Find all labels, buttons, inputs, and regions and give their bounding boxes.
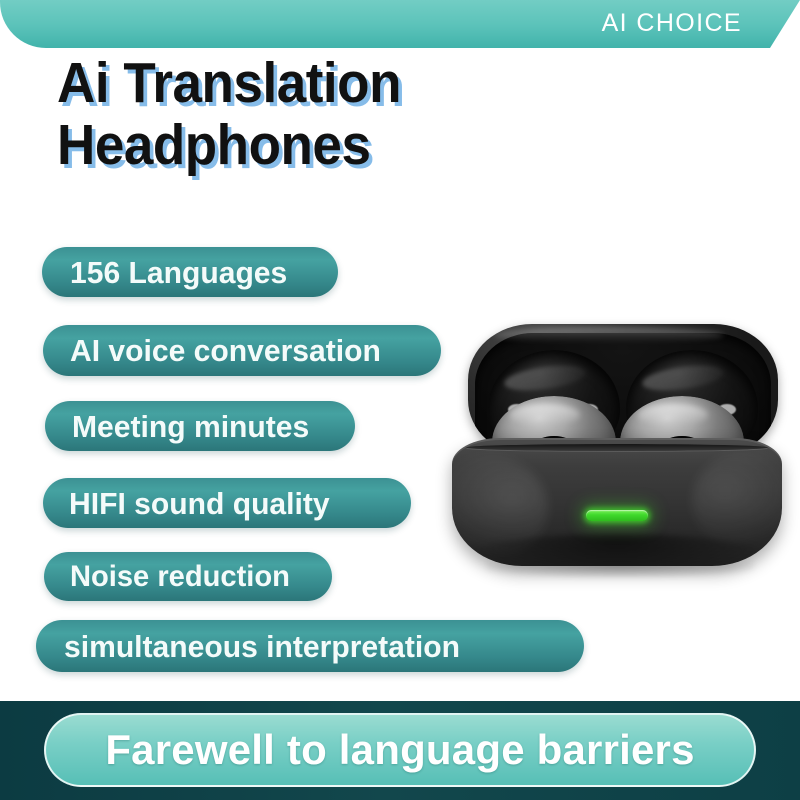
- well-highlight: [503, 362, 587, 395]
- case-seam: [466, 444, 768, 451]
- feature-pill-noise-reduction: Noise reduction: [44, 552, 332, 601]
- product-image-earbuds-case: [452, 312, 790, 584]
- case-lid: [468, 324, 778, 456]
- feature-pill-label: simultaneous interpretation: [64, 631, 460, 662]
- page-title-line-1: Ai Translation: [57, 52, 541, 114]
- feature-pill-label: Meeting minutes: [72, 411, 309, 442]
- feature-pill-label: AI voice conversation: [70, 335, 381, 366]
- ai-choice-badge: AI CHOICE: [602, 9, 742, 38]
- case-lid-highlight: [494, 327, 724, 343]
- feature-pill-label: HIFI sound quality: [69, 488, 330, 519]
- page-title: Ai Translation Headphones: [57, 52, 577, 176]
- bottom-banner: Farewell to language barriers: [0, 701, 800, 800]
- earbud-highlight: [638, 404, 708, 426]
- cta-pill: Farewell to language barriers: [44, 713, 756, 787]
- feature-pill-meeting-minutes: Meeting minutes: [45, 401, 355, 451]
- feature-pill-languages: 156 Languages: [42, 247, 338, 297]
- feature-pill-label: 156 Languages: [70, 257, 287, 288]
- case-base: [452, 438, 782, 566]
- product-poster: AI CHOICE Ai Translation Headphones 156 …: [0, 0, 800, 800]
- well-highlight: [641, 362, 725, 395]
- case-highlight-right: [692, 452, 782, 550]
- earbud-highlight: [510, 404, 580, 426]
- feature-pill-label: Noise reduction: [70, 562, 290, 592]
- feature-pill-sound-quality: HIFI sound quality: [43, 478, 411, 528]
- feature-pill-voice-conversation: AI voice conversation: [43, 325, 441, 376]
- top-banner: AI CHOICE: [0, 0, 800, 48]
- feature-pill-simultaneous-interpretation: simultaneous interpretation: [36, 620, 584, 672]
- cta-label: Farewell to language barriers: [105, 729, 694, 771]
- page-title-line-2: Headphones: [57, 114, 541, 176]
- charging-led-indicator: [586, 510, 648, 521]
